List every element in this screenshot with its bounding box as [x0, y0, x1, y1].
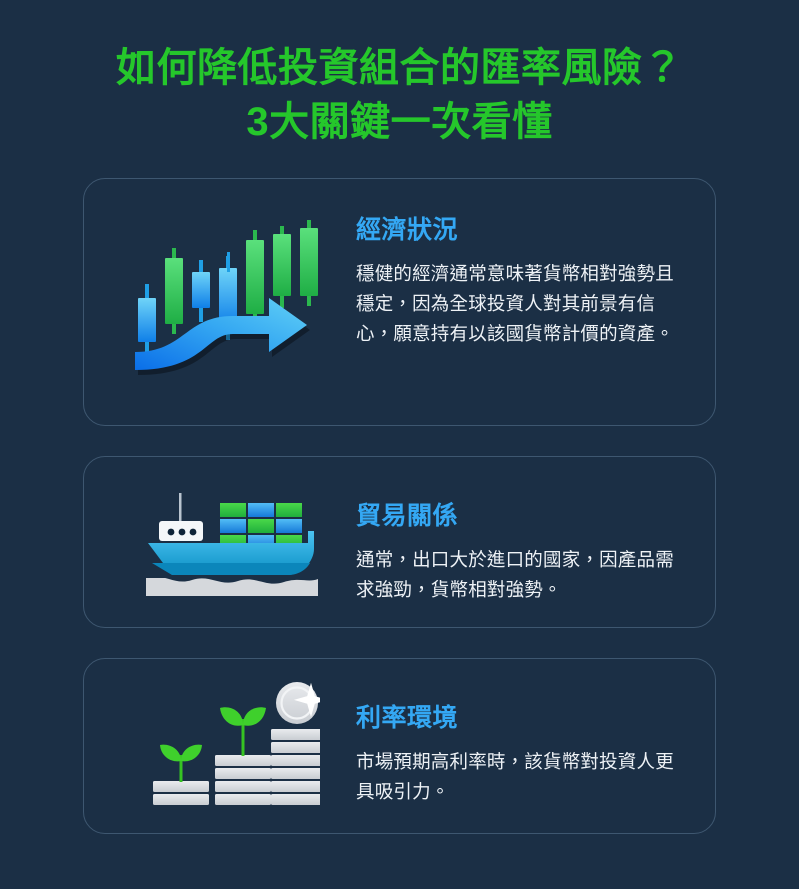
candlestick-chart-uptrend-icon [127, 212, 337, 392]
card-economy[interactable]: 經濟狀況 穩健的經濟通常意味著貨幣相對強勢且穩定，因為全球投資人對其前景有信心，… [83, 178, 716, 426]
card-trade-text: 通常，出口大於進口的國家，因產品需求強勁，貨幣相對強勢。 [356, 545, 683, 605]
card-interest-rate-heading: 利率環境 [356, 703, 683, 733]
coin-stacks-sprout-icon [145, 681, 320, 811]
card-trade-body: 貿易關係 通常，出口大於進口的國家，因產品需求強勁，貨幣相對強勢。 [356, 479, 689, 605]
card-interest-rate[interactable]: 利率環境 市場預期高利率時，該貨幣對投資人更具吸引力。 [83, 658, 716, 834]
cargo-ship-icon [142, 479, 322, 604]
card-interest-rate-body: 利率環境 市場預期高利率時，該貨幣對投資人更具吸引力。 [356, 681, 689, 807]
card-trade-icon-wrap [108, 479, 356, 604]
card-economy-icon-wrap [108, 212, 356, 392]
title-line-1: 如何降低投資組合的匯率風險？ [0, 44, 799, 92]
title-line-2: 3大關鍵一次看懂 [0, 98, 799, 146]
card-trade-heading: 貿易關係 [356, 501, 683, 531]
card-trade[interactable]: 貿易關係 通常，出口大於進口的國家，因產品需求強勁，貨幣相對強勢。 [83, 456, 716, 628]
card-interest-rate-icon-wrap [108, 681, 356, 811]
card-interest-rate-text: 市場預期高利率時，該貨幣對投資人更具吸引力。 [356, 747, 683, 807]
page-title: 如何降低投資組合的匯率風險？ 3大關鍵一次看懂 [0, 0, 799, 146]
card-economy-heading: 經濟狀況 [356, 215, 683, 245]
card-economy-body: 經濟狀況 穩健的經濟通常意味著貨幣相對強勢且穩定，因為全球投資人對其前景有信心，… [356, 201, 689, 349]
infographic-page: 如何降低投資組合的匯率風險？ 3大關鍵一次看懂 [0, 0, 799, 889]
card-economy-text: 穩健的經濟通常意味著貨幣相對強勢且穩定，因為全球投資人對其前景有信心，願意持有以… [356, 259, 683, 349]
card-list: 經濟狀況 穩健的經濟通常意味著貨幣相對強勢且穩定，因為全球投資人對其前景有信心，… [0, 178, 799, 834]
